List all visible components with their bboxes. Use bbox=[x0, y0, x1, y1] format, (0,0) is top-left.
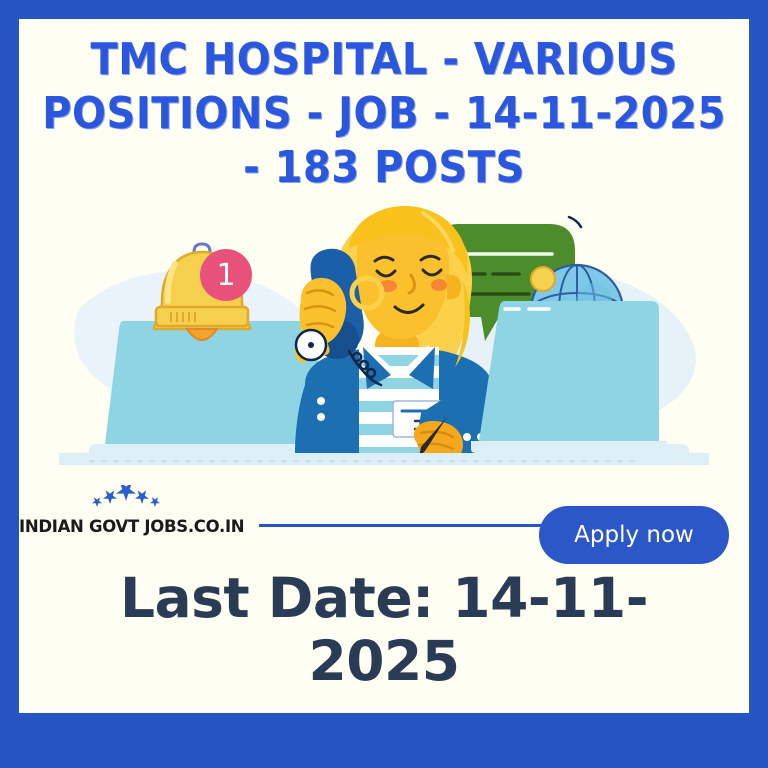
laptop-left-icon bbox=[97, 321, 325, 455]
page-title: TMC HOSPITAL - VARIOUS POSITIONS - JOB -… bbox=[19, 33, 749, 195]
apply-now-button[interactable]: Apply now bbox=[539, 506, 729, 564]
hero-illustration: 1 bbox=[19, 189, 749, 519]
poster-canvas: TMC HOSPITAL - VARIOUS POSITIONS - JOB -… bbox=[19, 19, 749, 713]
notification-badge-count: 1 bbox=[216, 258, 235, 293]
notification-bell-icon bbox=[154, 244, 252, 340]
site-logo[interactable]: INDIAN GOVT JOBS.CO.IN bbox=[19, 481, 259, 557]
poster-frame: TMC HOSPITAL - VARIOUS POSITIONS - JOB -… bbox=[0, 0, 768, 768]
desk-surface bbox=[59, 453, 709, 465]
logo-text: INDIAN GOVT JOBS.CO.IN bbox=[19, 517, 259, 536]
last-date-text: Last Date: 14-11-2025 bbox=[59, 567, 709, 693]
logo-stars-icon bbox=[91, 485, 161, 511]
laptop-right-icon bbox=[471, 301, 667, 453]
